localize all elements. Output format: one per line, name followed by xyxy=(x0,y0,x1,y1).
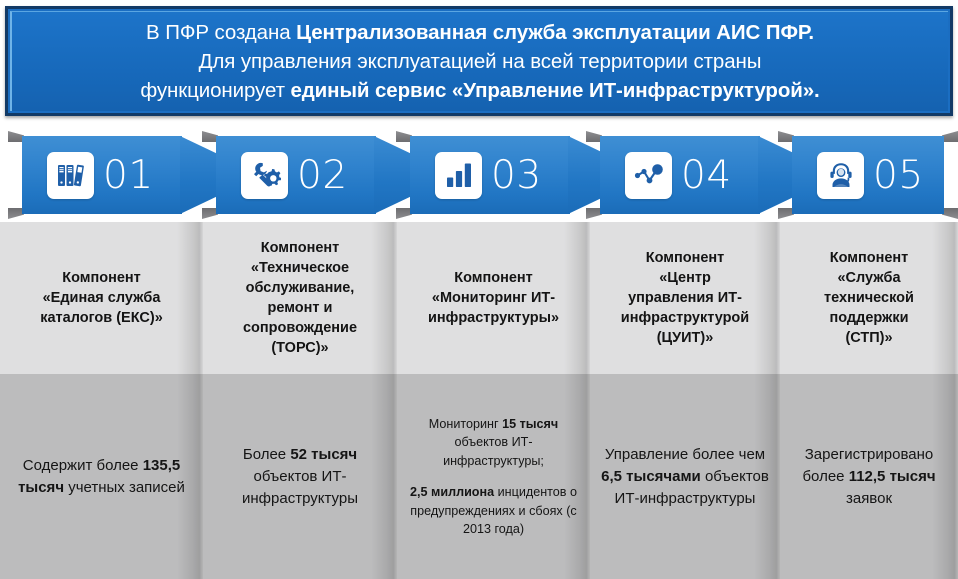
stat-text: объектов ИТ-инфраструктуры; xyxy=(443,435,544,468)
component-stat-05: Зарегистрировано более 112,5 тысяч заяво… xyxy=(780,374,958,579)
component-title-03: Компонент«Мониторинг ИТ-инфраструктуры» xyxy=(397,222,590,374)
stat-emphasis: 6,5 тысячами xyxy=(601,468,701,485)
component-title-04: Компонент«Центруправления ИТ-инфраструкт… xyxy=(590,222,780,374)
ribbon-content: 01 xyxy=(22,136,154,214)
component-column-05: Компонент«Службатехническойподдержки(СТП… xyxy=(780,222,958,579)
ribbon-point xyxy=(180,136,216,214)
ribbon-fold-right-top xyxy=(942,131,958,142)
wrench-gear-icon xyxy=(241,152,288,199)
stat-text: объектов ИТ-инфраструктуры xyxy=(242,468,358,507)
header-line3-bold: единый сервис «Управление ИТ-инфраструкт… xyxy=(290,79,819,102)
stat-paragraph: Управление более чем 6,5 тысячами объект… xyxy=(600,444,770,510)
header-banner: В ПФР создана Централизованная служба эк… xyxy=(5,6,953,116)
support-headset-icon xyxy=(817,152,864,199)
binders-icon xyxy=(47,152,94,199)
ribbon-number-03: 03 xyxy=(491,156,542,195)
ribbon-point xyxy=(374,136,410,214)
ribbon-02: 02 xyxy=(216,136,376,214)
component-title-text: Компонент«Мониторинг ИТ-инфраструктуры» xyxy=(428,268,559,328)
stat-emphasis: 15 тысяч xyxy=(502,417,558,431)
component-column-04: Компонент«Центруправления ИТ-инфраструкт… xyxy=(590,222,780,579)
header-text: В ПФР создана Централизованная служба эк… xyxy=(122,18,837,105)
stat-emphasis: 112,5 тысяч xyxy=(849,468,936,485)
title-line: инфраструктурой xyxy=(621,308,749,328)
stat-block: Мониторинг 15 тысяч объектов ИТ-инфрастр… xyxy=(407,415,580,539)
stat-paragraph: Более 52 тысяч объектов ИТ-инфраструктур… xyxy=(213,444,387,510)
component-title-01: Компонент«Единая службакаталогов (ЕКС)» xyxy=(0,222,203,374)
ribbon-number-04: 04 xyxy=(681,156,732,195)
ribbon-content: 03 xyxy=(410,136,542,214)
stat-spacer xyxy=(407,470,580,483)
component-stat-03: Мониторинг 15 тысяч объектов ИТ-инфрастр… xyxy=(397,374,590,579)
stat-block: Управление более чем 6,5 тысячами объект… xyxy=(600,444,770,510)
ribbon-point xyxy=(758,136,794,214)
title-line: «Мониторинг ИТ- xyxy=(428,288,559,308)
title-line: каталогов (ЕКС)» xyxy=(40,308,163,328)
title-line: Компонент xyxy=(621,248,749,268)
bar-chart-icon xyxy=(435,152,482,199)
component-stat-02: Более 52 тысяч объектов ИТ-инфраструктур… xyxy=(203,374,397,579)
component-stat-04: Управление более чем 6,5 тысячами объект… xyxy=(590,374,780,579)
component-title-text: Компонент«Техническоеобслуживание,ремонт… xyxy=(243,238,357,358)
ribbon-05: 05 xyxy=(792,136,944,214)
ribbon-point xyxy=(568,136,604,214)
ribbon-04: 04 xyxy=(600,136,760,214)
ribbon-fold-right-bottom xyxy=(942,208,958,219)
title-line: сопровождение xyxy=(243,318,357,338)
title-line: поддержки xyxy=(824,308,914,328)
title-line: Компонент xyxy=(428,268,559,288)
title-line: (ТОРС)» xyxy=(243,338,357,358)
stat-paragraph: 2,5 миллиона инцидентов о предупреждения… xyxy=(407,483,580,539)
stat-text: учетных записей xyxy=(68,479,185,496)
ribbon-content: 04 xyxy=(600,136,732,214)
ribbon-number-05: 05 xyxy=(873,156,924,195)
stat-paragraph: Мониторинг 15 тысяч объектов ИТ-инфрастр… xyxy=(407,415,580,471)
title-line: «Единая служба xyxy=(40,288,163,308)
title-line: «Техническое xyxy=(243,258,357,278)
ribbon-content: 05 xyxy=(792,136,924,214)
stat-paragraph: Содержит более 135,5 тысяч учетных запис… xyxy=(10,455,193,499)
component-title-05: Компонент«Службатехническойподдержки(СТП… xyxy=(780,222,958,374)
ribbon-content: 02 xyxy=(216,136,348,214)
stat-emphasis: 52 тысяч xyxy=(290,446,357,463)
title-line: «Центр xyxy=(621,268,749,288)
network-nodes-icon xyxy=(625,152,672,199)
stat-text: заявок xyxy=(846,490,892,507)
stat-block: Содержит более 135,5 тысяч учетных запис… xyxy=(10,455,193,499)
component-title-02: Компонент«Техническоеобслуживание,ремонт… xyxy=(203,222,397,374)
stat-paragraph: Зарегистрировано более 112,5 тысяч заяво… xyxy=(790,444,948,510)
header-line2: Для управления эксплуатацией на всей тер… xyxy=(199,50,762,73)
component-title-text: Компонент«Службатехническойподдержки(СТП… xyxy=(824,248,914,348)
components-grid: Компонент«Единая службакаталогов (ЕКС)»С… xyxy=(0,222,958,579)
title-line: «Служба xyxy=(824,268,914,288)
component-column-03: Компонент«Мониторинг ИТ-инфраструктуры»М… xyxy=(397,222,590,579)
stat-text: Управление более чем xyxy=(605,446,765,463)
title-line: Компонент xyxy=(824,248,914,268)
title-line: Компонент xyxy=(40,268,163,288)
ribbon-number-01: 01 xyxy=(103,156,154,195)
ribbon-01: 01 xyxy=(22,136,182,214)
title-line: (СТП)» xyxy=(824,328,914,348)
component-title-text: Компонент«Центруправления ИТ-инфраструкт… xyxy=(621,248,749,348)
stat-text: Более xyxy=(243,446,290,463)
infographic-slide: В ПФР создана Централизованная служба эк… xyxy=(0,0,958,579)
component-stat-01: Содержит более 135,5 тысяч учетных запис… xyxy=(0,374,203,579)
header-line1-bold: Централизованная служба эксплуатации АИС… xyxy=(296,21,814,44)
component-column-02: Компонент«Техническоеобслуживание,ремонт… xyxy=(203,222,397,579)
header-line1-prefix: В ПФР создана xyxy=(146,21,296,44)
stat-block: Зарегистрировано более 112,5 тысяч заяво… xyxy=(790,444,948,510)
title-line: Компонент xyxy=(243,238,357,258)
header-banner-inner: В ПФР создана Централизованная служба эк… xyxy=(10,11,948,111)
title-line: управления ИТ- xyxy=(621,288,749,308)
component-column-01: Компонент«Единая службакаталогов (ЕКС)»С… xyxy=(0,222,203,579)
stat-emphasis: 2,5 миллиона xyxy=(410,485,494,499)
ribbon-03: 03 xyxy=(410,136,570,214)
title-line: ремонт и xyxy=(243,298,357,318)
title-line: технической xyxy=(824,288,914,308)
ribbon-band: 01 02 03 04 xyxy=(0,130,958,222)
stat-text: Содержит более xyxy=(23,457,139,474)
title-line: обслуживание, xyxy=(243,278,357,298)
title-line: инфраструктуры» xyxy=(428,308,559,328)
title-line: (ЦУИТ)» xyxy=(621,328,749,348)
header-line3-prefix: функционирует xyxy=(140,79,290,102)
stat-text: Мониторинг xyxy=(429,417,502,431)
component-title-text: Компонент«Единая службакаталогов (ЕКС)» xyxy=(40,268,163,328)
stat-block: Более 52 тысяч объектов ИТ-инфраструктур… xyxy=(213,444,387,510)
ribbon-number-02: 02 xyxy=(297,156,348,195)
